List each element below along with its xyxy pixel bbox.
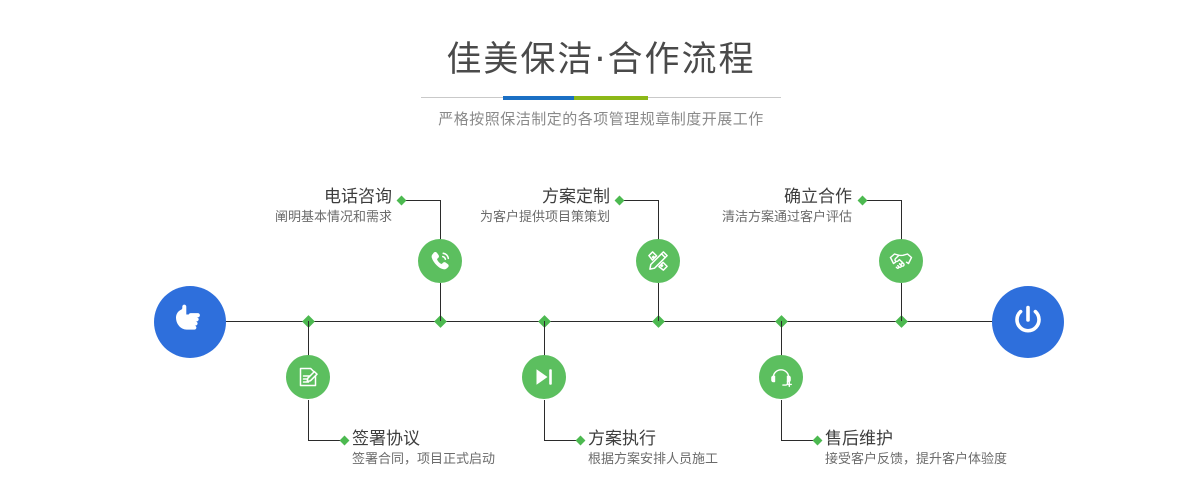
connector-vertical-2-lower xyxy=(308,400,309,440)
connector-vertical-3 xyxy=(658,283,659,321)
power-icon xyxy=(1008,300,1048,344)
connector-lead-6 xyxy=(781,440,816,441)
page-subtitle: 严格按照保洁制定的各项管理规章制度开展工作 xyxy=(0,107,1202,131)
step-icon-5 xyxy=(879,239,923,283)
step-desc-2: 签署合同，项目正式启动 xyxy=(352,450,495,470)
divider-segment-green xyxy=(574,96,648,100)
step-label-4: 方案执行 根据方案安排人员施工 xyxy=(588,428,718,470)
connector-vertical-1 xyxy=(440,283,441,321)
connector-vertical-6-lower xyxy=(781,400,782,440)
title-divider xyxy=(421,96,781,100)
step-icon-1 xyxy=(418,239,462,283)
connector-vertical-2 xyxy=(308,321,309,356)
document-edit-icon xyxy=(295,364,321,390)
connector-lead-5 xyxy=(866,200,901,201)
step-label-6: 售后维护 接受客户反馈，提升客户体验度 xyxy=(825,428,1007,470)
handshake-icon xyxy=(888,248,914,274)
step-title-6: 售后维护 xyxy=(825,428,1007,450)
step-icon-4 xyxy=(522,355,566,399)
step-label-2: 签署协议 签署合同，项目正式启动 xyxy=(352,428,495,470)
page-title: 佳美保洁·合作流程 xyxy=(0,38,1202,82)
connector-vertical-5 xyxy=(901,283,902,321)
label-marker-2 xyxy=(340,435,350,445)
step-title-4: 方案执行 xyxy=(588,428,718,450)
connector-lead-4 xyxy=(544,440,579,441)
label-marker-5 xyxy=(858,195,868,205)
connector-vertical-6 xyxy=(781,321,782,356)
play-execute-icon xyxy=(531,364,557,390)
customer-service-add-icon xyxy=(768,364,794,390)
cooperation-flow-infographic: 佳美保洁·合作流程 严格按照保洁制定的各项管理规章制度开展工作 xyxy=(0,0,1202,502)
step-desc-6: 接受客户反馈，提升客户体验度 xyxy=(825,450,1007,470)
connector-vertical-4 xyxy=(544,321,545,356)
step-title-5: 确立合作 xyxy=(470,186,852,208)
label-marker-6 xyxy=(813,435,823,445)
connector-lead-2 xyxy=(308,440,343,441)
step-icon-3 xyxy=(636,239,680,283)
pointing-hand-icon xyxy=(170,300,210,344)
connector-vertical-4-lower xyxy=(544,400,545,440)
pencil-ruler-icon xyxy=(645,248,671,274)
divider-segment-blue xyxy=(503,96,574,100)
step-desc-4: 根据方案安排人员施工 xyxy=(588,450,718,470)
step-icon-6 xyxy=(759,355,803,399)
step-title-2: 签署协议 xyxy=(352,428,495,450)
step-label-5: 确立合作 清洁方案通过客户评估 xyxy=(470,186,852,228)
step-icon-2 xyxy=(286,355,330,399)
label-marker-4 xyxy=(576,435,586,445)
timeline-end-marker xyxy=(992,286,1064,358)
step-desc-5: 清洁方案通过客户评估 xyxy=(470,208,852,228)
phone-call-icon xyxy=(427,248,453,274)
timeline-start-marker xyxy=(154,286,226,358)
